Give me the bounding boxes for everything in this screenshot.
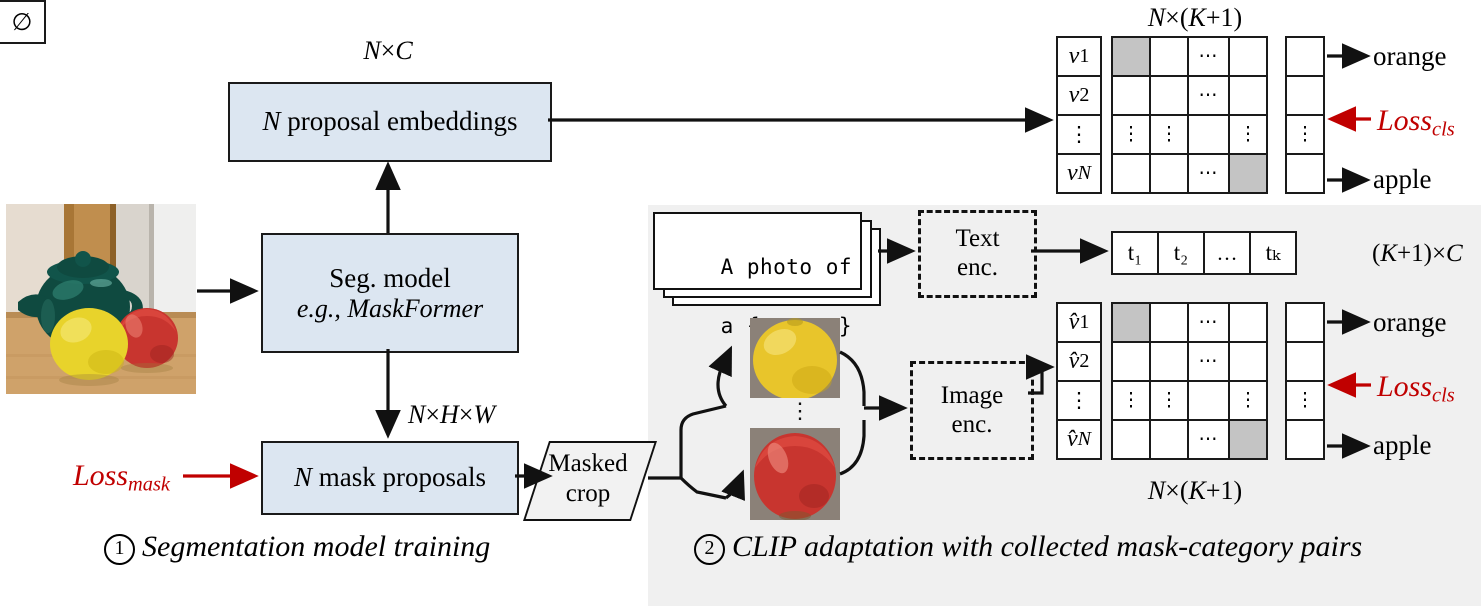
diagram-canvas: N proposal embeddings N×C Seg. model e.g… bbox=[0, 0, 1481, 606]
curve-orange-to-merge bbox=[840, 352, 864, 406]
connector-layer: ⋮ bbox=[0, 0, 1481, 606]
curve-branch-upper bbox=[681, 406, 726, 478]
arrow-imageencoder-to-bottommatrix bbox=[1028, 367, 1050, 393]
curve-branch-lower-a bbox=[681, 478, 726, 498]
arrow-branch-to-orange bbox=[718, 350, 730, 406]
crops-vertical-ellipsis: ⋮ bbox=[789, 398, 811, 423]
curve-apple-to-merge bbox=[840, 420, 864, 474]
arrow-branch-to-apple bbox=[726, 474, 742, 498]
